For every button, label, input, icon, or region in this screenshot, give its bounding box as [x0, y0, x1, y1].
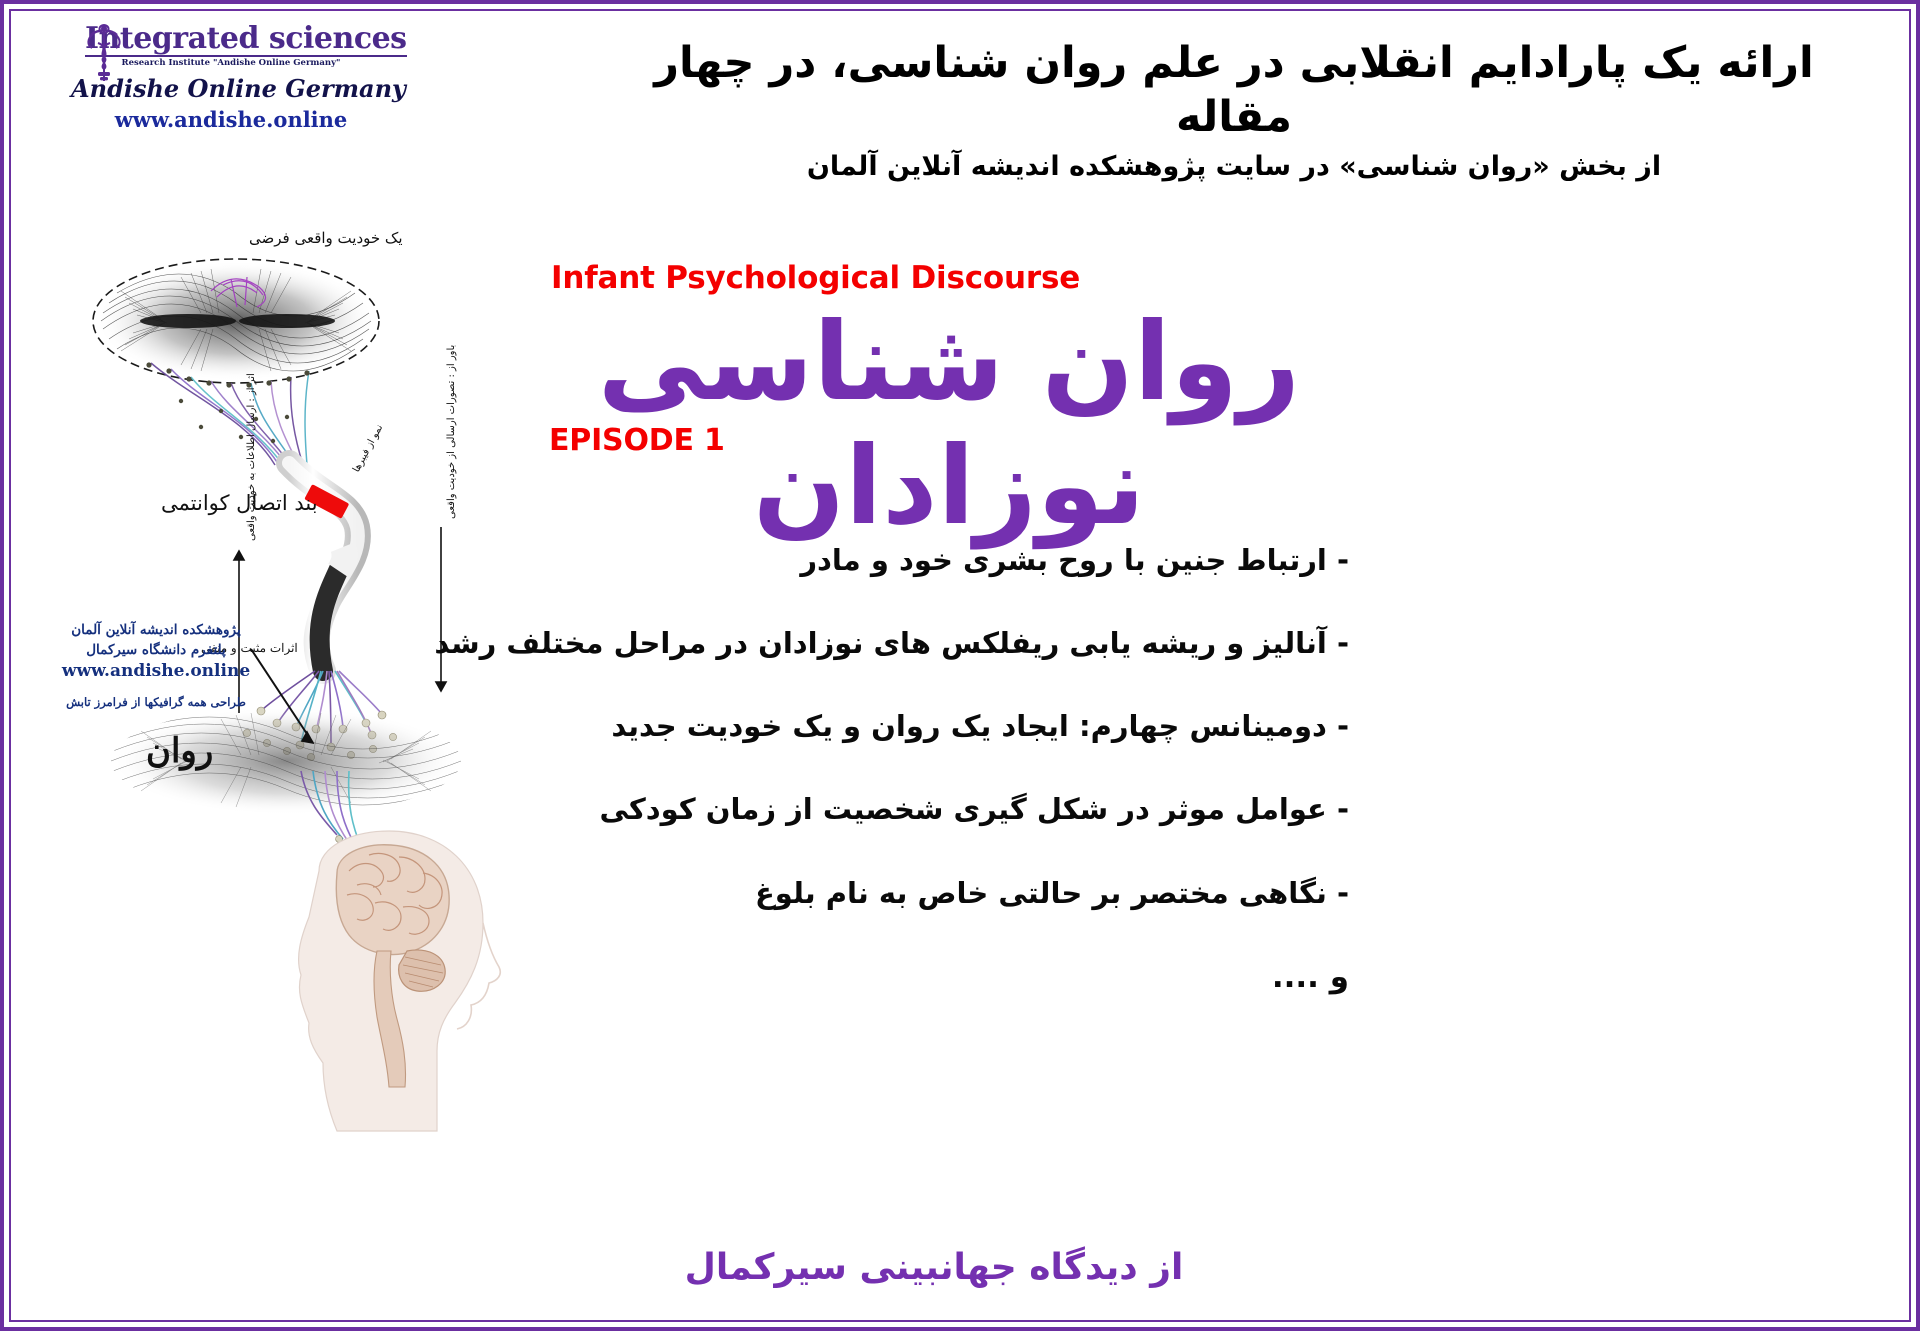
poster-inner-frame: Integrated sciences Research Institute "…	[9, 9, 1911, 1322]
header-block: ارائه یک پارادایم انقلابی در علم روان شن…	[619, 37, 1849, 184]
credits-platform: پلتفرم دانشگاه سیرکمال	[26, 641, 286, 661]
caduceus-icon	[81, 23, 127, 85]
header-headline: ارائه یک پارادایم انقلابی در علم روان شن…	[619, 37, 1849, 145]
list-item: - ارتباط جنین با روح بشری خود و مادر	[519, 541, 1349, 580]
footer-tagline: از دیدگاه جهانبینی سیرکمال	[519, 1247, 1349, 1288]
list-item: - دومینانس چهارم: ایجاد یک روان و یک خود…	[519, 707, 1349, 746]
english-subtitle: Infant Psychological Discourse	[551, 260, 1080, 296]
list-item: و ....	[519, 957, 1349, 999]
brand-block: Integrated sciences Research Institute "…	[71, 23, 391, 132]
brand-title: Integrated sciences	[85, 23, 407, 57]
credits-block: پژوهشکده اندیشه آنلاین آلمان پلتفرم دانش…	[26, 621, 286, 709]
credits-designer: طراحی همه گرافیکها از فرامرز تابش	[26, 695, 286, 709]
brand-url[interactable]: www.andishe.online	[71, 107, 391, 132]
label-hypothetical-self: یک خودیت واقعی فرضی	[249, 229, 403, 247]
topics-list: - ارتباط جنین با روح بشری خود و مادر - آ…	[519, 541, 1349, 999]
label-axis-left: اثر از : ارسال اطلاعات به خودیت واقعی	[246, 373, 257, 541]
label-psyche: روان	[146, 731, 213, 771]
list-item: - نگاهی مختصر بر حالتی خاص به نام بلوغ	[519, 874, 1349, 913]
poster-frame: Integrated sciences Research Institute "…	[0, 0, 1920, 1331]
label-quantum-link: بند اتصال کوانتمی	[161, 491, 318, 515]
episode-label: EPISODE 1	[549, 423, 725, 458]
list-item: - آنالیز و ریشه یابی ریفلکس های نوزادان …	[519, 624, 1349, 663]
credits-institute: پژوهشکده اندیشه آنلاین آلمان	[26, 621, 286, 641]
credits-url[interactable]: www.andishe.online	[26, 661, 286, 681]
list-item: - عوامل موثر در شکل گیری شخصیت از زمان ک…	[519, 790, 1349, 829]
header-subheadline: از بخش «روان شناسی» در سایت پژوهشکده اند…	[619, 149, 1849, 184]
